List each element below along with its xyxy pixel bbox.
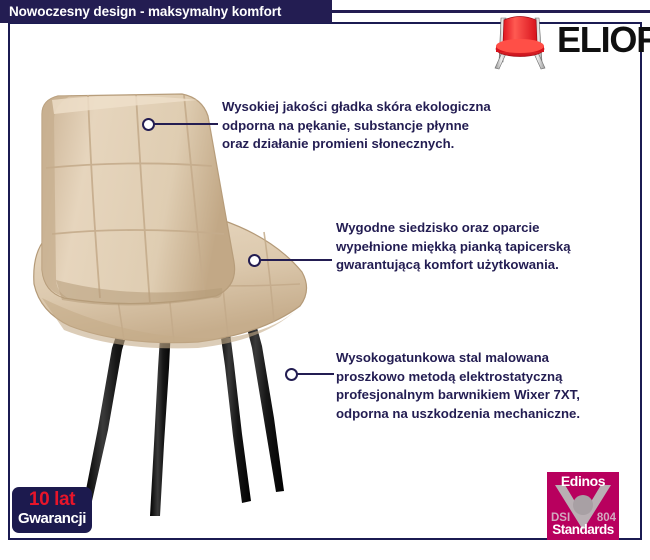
callout-3-line-3: profesjonalnym barwnikiem Wixer 7XT,	[336, 386, 580, 405]
callout-3-line-4: odporna na uszkodzenia mechaniczne.	[336, 405, 580, 424]
callout-1-line-2: odporna na pękanie, substancje płynne	[222, 117, 491, 136]
infographic-page: Nowoczesny design - maksymalny komfort	[0, 0, 650, 560]
callout-text-upholstery: Wysokiej jakości gładka skóra ekologiczn…	[222, 98, 491, 154]
red-chair-icon	[487, 10, 553, 72]
warranty-badge: 10 lat Gwarancji	[12, 487, 92, 533]
callout-dot-2[interactable]	[248, 254, 261, 267]
brand-logo: ELIOR	[487, 10, 642, 72]
callout-dot-1[interactable]	[142, 118, 155, 131]
certification-brand: Edinos	[547, 473, 619, 489]
callout-dot-3[interactable]	[285, 368, 298, 381]
callout-2-line-1: Wygodne siedzisko oraz oparcie	[336, 219, 571, 238]
callout-line-1	[152, 123, 218, 125]
warranty-label: Gwarancji	[12, 510, 92, 528]
callout-1-line-1: Wysokiej jakości gładka skóra ekologiczn…	[222, 98, 491, 117]
callout-3-line-1: Wysokogatunkowa stal malowana	[336, 349, 580, 368]
brand-name: ELIOR	[557, 22, 650, 58]
warranty-years: 10 lat	[12, 489, 92, 510]
callout-text-seat-foam: Wygodne siedzisko oraz oparcie wypełnion…	[336, 219, 571, 275]
callout-2-line-3: gwarantującą komfort użytkowania.	[336, 256, 571, 275]
callout-line-3	[296, 373, 334, 375]
certification-badge: Edinos DSI 804 Standards	[547, 472, 619, 540]
header-banner: Nowoczesny design - maksymalny komfort	[0, 0, 332, 23]
callout-3-line-2: proszkowo metodą elektrostatyczną	[336, 368, 580, 387]
callout-1-line-3: oraz działanie promieni słonecznych.	[222, 135, 491, 154]
certification-label: Standards	[547, 522, 619, 537]
callout-line-2	[260, 259, 332, 261]
callout-text-steel-frame: Wysokogatunkowa stal malowana proszkowo …	[336, 349, 580, 423]
callout-2-line-2: wypełnione miękką pianką tapicerską	[336, 238, 571, 257]
